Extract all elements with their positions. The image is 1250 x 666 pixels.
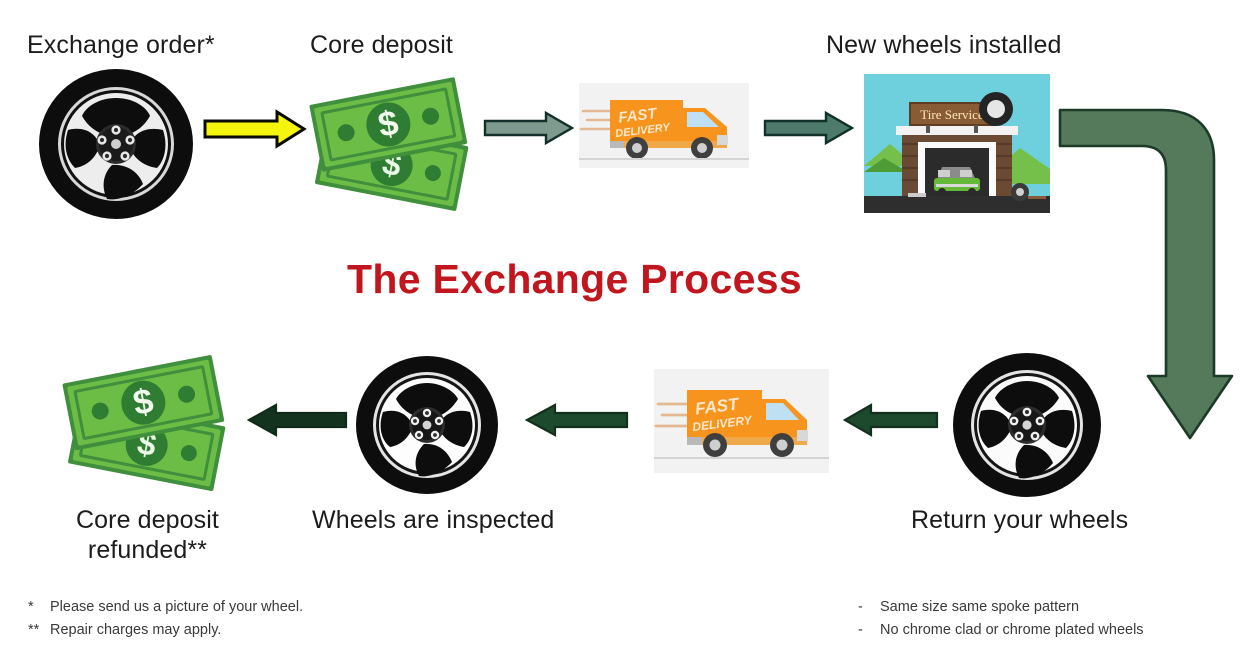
- footnote-marker: -: [858, 596, 880, 619]
- label-core-deposit-refunded-line1: Core deposit: [76, 506, 219, 534]
- shop-sign-text: Tire Service: [920, 107, 984, 122]
- arrow-shipping-to-inspected: [525, 404, 628, 436]
- tire-service-shop-icon: Tire Service: [864, 74, 1050, 213]
- footnote-text: Same size same spoke pattern: [880, 599, 1079, 615]
- footnote-text: Repair charges may apply.: [50, 622, 221, 638]
- label-core-deposit-refunded-line2: refunded**: [88, 536, 207, 564]
- diagram-title: The Exchange Process: [347, 256, 802, 303]
- footnote-right-2: -No chrome clad or chrome plated wheels: [858, 619, 1144, 642]
- footnote-text: Please send us a picture of your wheel.: [50, 599, 303, 615]
- footnotes-right: -Same size same spoke pattern -No chrome…: [858, 596, 1144, 642]
- footnote-marker: -: [858, 619, 880, 642]
- wheel-icon-exchange-order: [38, 68, 194, 220]
- arrow-shipping-to-installed: [764, 111, 854, 145]
- exchange-process-diagram: Exchange order* Core deposit New wheels …: [0, 0, 1250, 666]
- label-exchange-order: Exchange order*: [27, 30, 215, 60]
- footnote-right-1: -Same size same spoke pattern: [858, 596, 1144, 619]
- footnotes-left: *Please send us a picture of your wheel.…: [28, 596, 303, 642]
- label-new-wheels-installed: New wheels installed: [826, 30, 1061, 60]
- arrow-return-to-shipping: [843, 404, 938, 436]
- delivery-truck-icon-return: FAST DELIVERY: [654, 369, 829, 473]
- arrow-exchange-order-to-core-deposit: [203, 110, 307, 148]
- footnote-left-2: **Repair charges may apply.: [28, 619, 303, 642]
- footnote-left-1: *Please send us a picture of your wheel.: [28, 596, 303, 619]
- label-wheels-are-inspected: Wheels are inspected: [312, 505, 554, 535]
- delivery-truck-icon-outbound: FAST DELIVERY: [579, 83, 749, 168]
- footnote-marker: *: [28, 596, 50, 619]
- arrow-core-deposit-to-shipping: [484, 111, 574, 145]
- wheel-icon-return-your-wheels: [952, 352, 1102, 498]
- label-core-deposit: Core deposit: [310, 30, 453, 60]
- cash-icon-deposit-refunded: $ $: [58, 350, 238, 490]
- footnote-marker: **: [28, 619, 50, 642]
- footnote-text: No chrome clad or chrome plated wheels: [880, 622, 1144, 638]
- arrow-inspected-to-refund: [247, 404, 347, 436]
- wheel-icon-wheels-inspected: [355, 355, 499, 495]
- label-core-deposit-refunded: Core deposit refunded**: [40, 505, 255, 565]
- cash-icon-core-deposit: $ $: [305, 72, 480, 210]
- label-return-your-wheels: Return your wheels: [911, 505, 1128, 535]
